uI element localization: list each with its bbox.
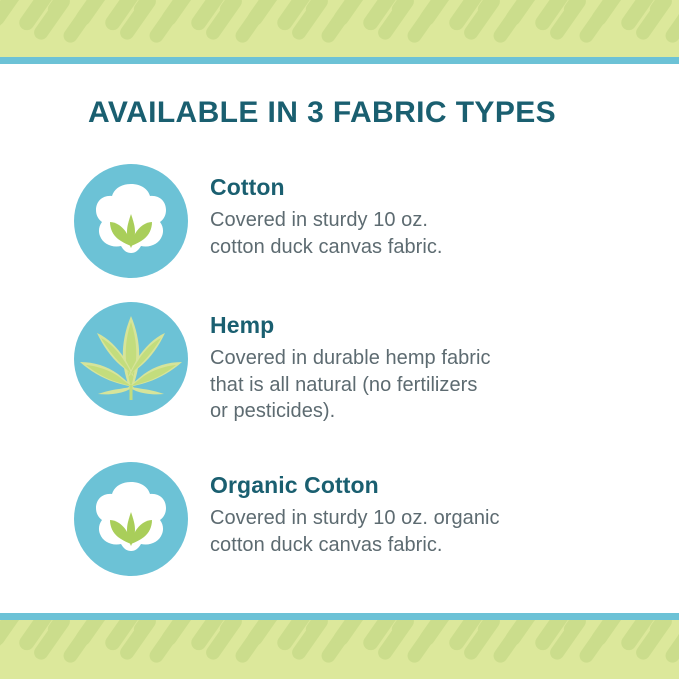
feature-text-cotton: Cotton Covered in sturdy 10 oz. cotton d… <box>192 162 630 260</box>
bottom-band-green-field <box>0 620 679 679</box>
top-band-green-field <box>0 0 679 57</box>
bottom-pattern-band <box>0 613 679 679</box>
feature-text-hemp: Hemp Covered in durable hemp fabric that… <box>192 300 630 425</box>
top-band-accent-rule <box>0 57 679 64</box>
feature-body-organic-cotton: Covered in sturdy 10 oz. organic cotton … <box>210 505 630 558</box>
feature-body-hemp: Covered in durable hemp fabric that is a… <box>210 345 630 424</box>
top-pattern-band <box>0 0 679 64</box>
infographic-page: AVAILABLE IN 3 FABRIC TYPES Cotton Cover… <box>0 0 679 679</box>
bottom-band-accent-rule <box>0 613 679 620</box>
hemp-leaf-icon <box>70 300 192 418</box>
feature-body-cotton: Covered in sturdy 10 oz. cotton duck can… <box>210 207 630 260</box>
page-title: AVAILABLE IN 3 FABRIC TYPES <box>88 96 628 129</box>
feature-text-organic-cotton: Organic Cotton Covered in sturdy 10 oz. … <box>192 460 630 558</box>
feature-heading-organic-cotton: Organic Cotton <box>210 472 630 498</box>
feature-row-hemp: Hemp Covered in durable hemp fabric that… <box>70 300 630 425</box>
cotton-boll-icon <box>70 460 192 578</box>
feature-row-cotton: Cotton Covered in sturdy 10 oz. cotton d… <box>70 162 630 280</box>
top-band-stripe-pattern <box>0 0 679 57</box>
feature-heading-cotton: Cotton <box>210 174 630 200</box>
bottom-band-stripe-pattern <box>0 620 679 679</box>
cotton-boll-icon <box>70 162 192 280</box>
feature-row-organic-cotton: Organic Cotton Covered in sturdy 10 oz. … <box>70 460 630 578</box>
feature-heading-hemp: Hemp <box>210 312 630 338</box>
